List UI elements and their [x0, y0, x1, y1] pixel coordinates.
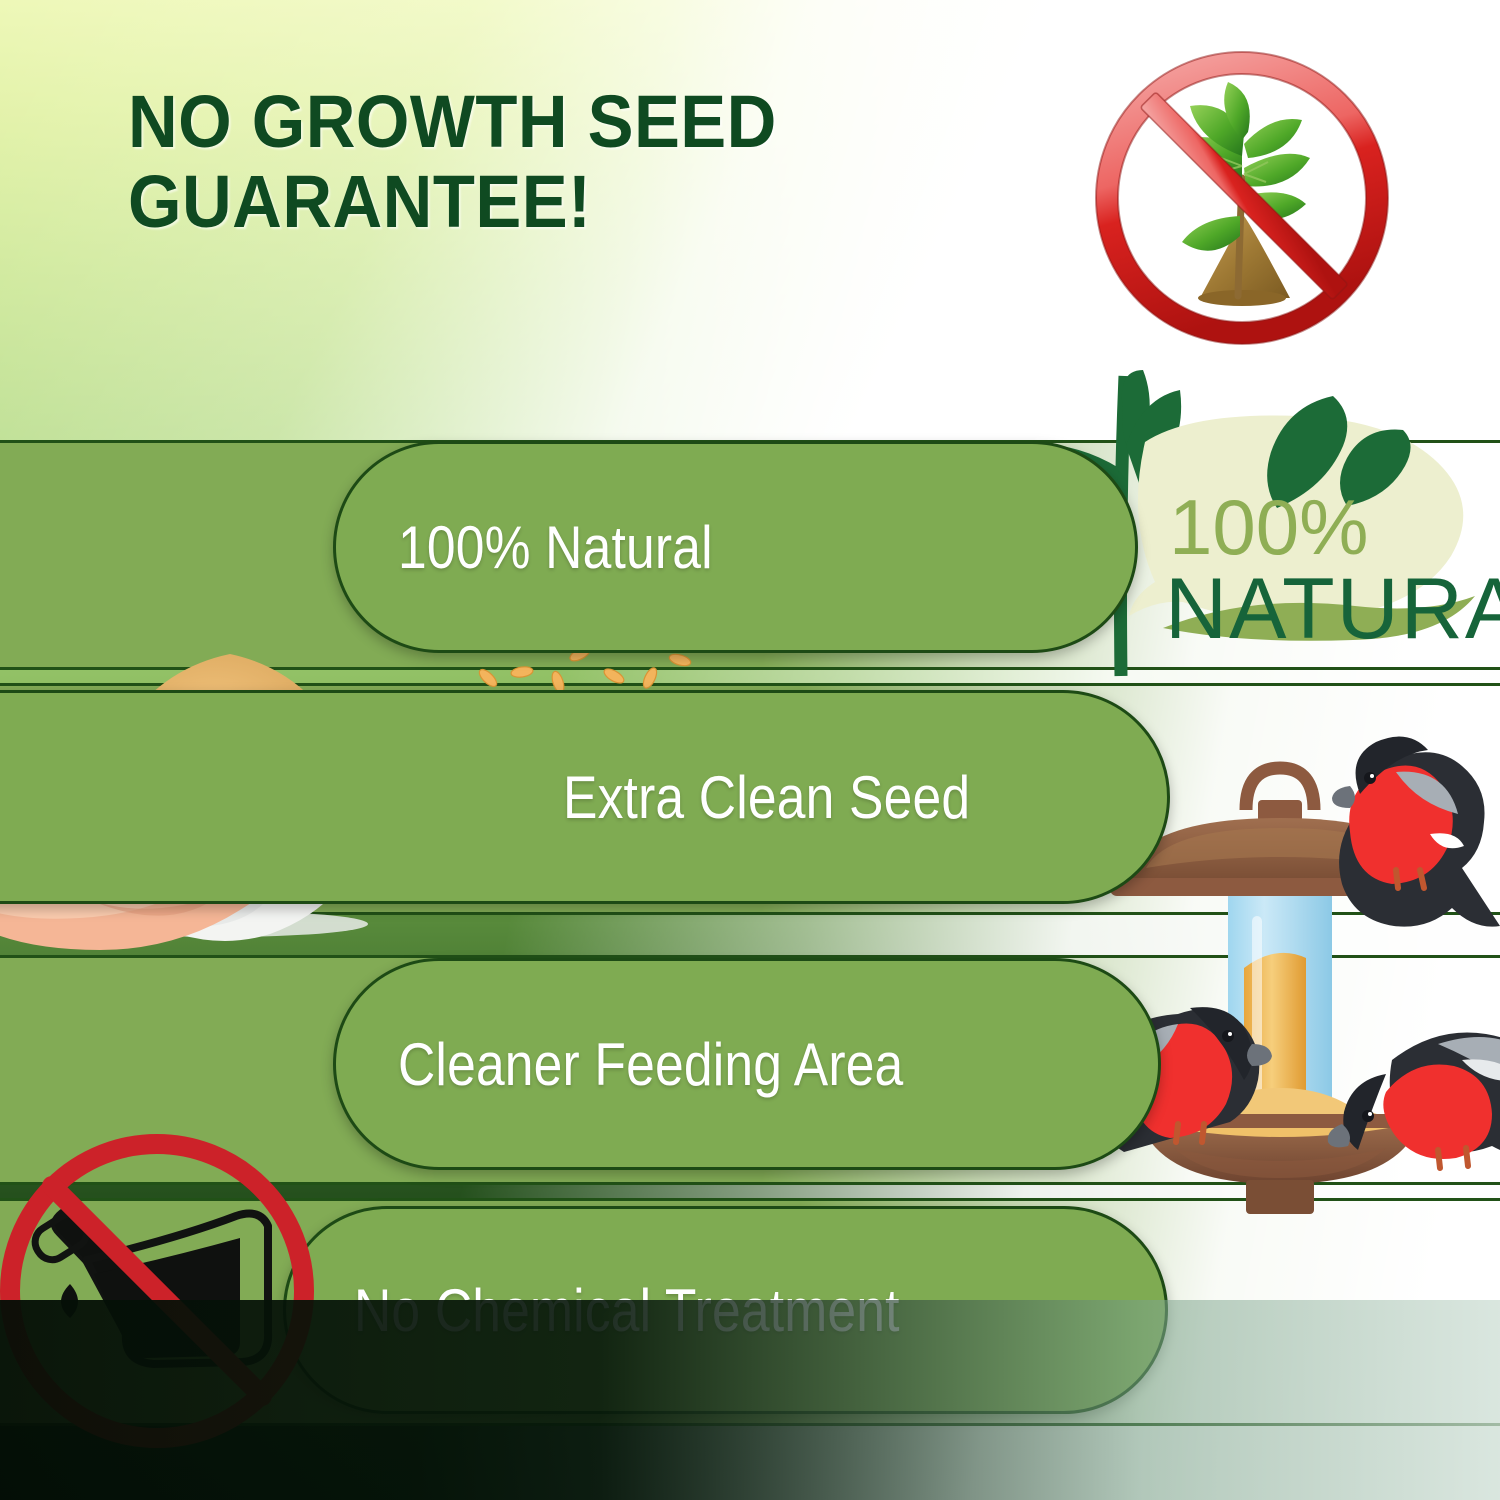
feature-label: Cleaner Feeding Area: [398, 1030, 903, 1099]
headline-line-1: NO GROWTH SEED: [128, 82, 946, 162]
feature-pill-clean-seed[interactable]: Extra Clean Seed: [0, 690, 1170, 904]
feature-label: 100% Natural: [398, 513, 713, 582]
feature-pill-feeding-area[interactable]: Cleaner Feeding Area: [333, 958, 1161, 1170]
product-feature-infographic: NO GROWTH SEED GUARANTEE!: [0, 0, 1500, 1500]
page-title: NO GROWTH SEED GUARANTEE!: [128, 82, 946, 242]
bullfinch-top: [1332, 737, 1500, 927]
feature-label: Extra Clean Seed: [563, 763, 970, 832]
background-bottom-wash: [0, 1300, 1500, 1500]
headline-line-2: GUARANTEE!: [128, 162, 946, 242]
seal-percent: 100%: [1169, 483, 1369, 571]
no-plant-growth-icon: [1092, 48, 1392, 348]
seal-word: NATURAL: [1165, 561, 1500, 657]
feature-pill-natural[interactable]: 100% Natural: [333, 441, 1138, 653]
